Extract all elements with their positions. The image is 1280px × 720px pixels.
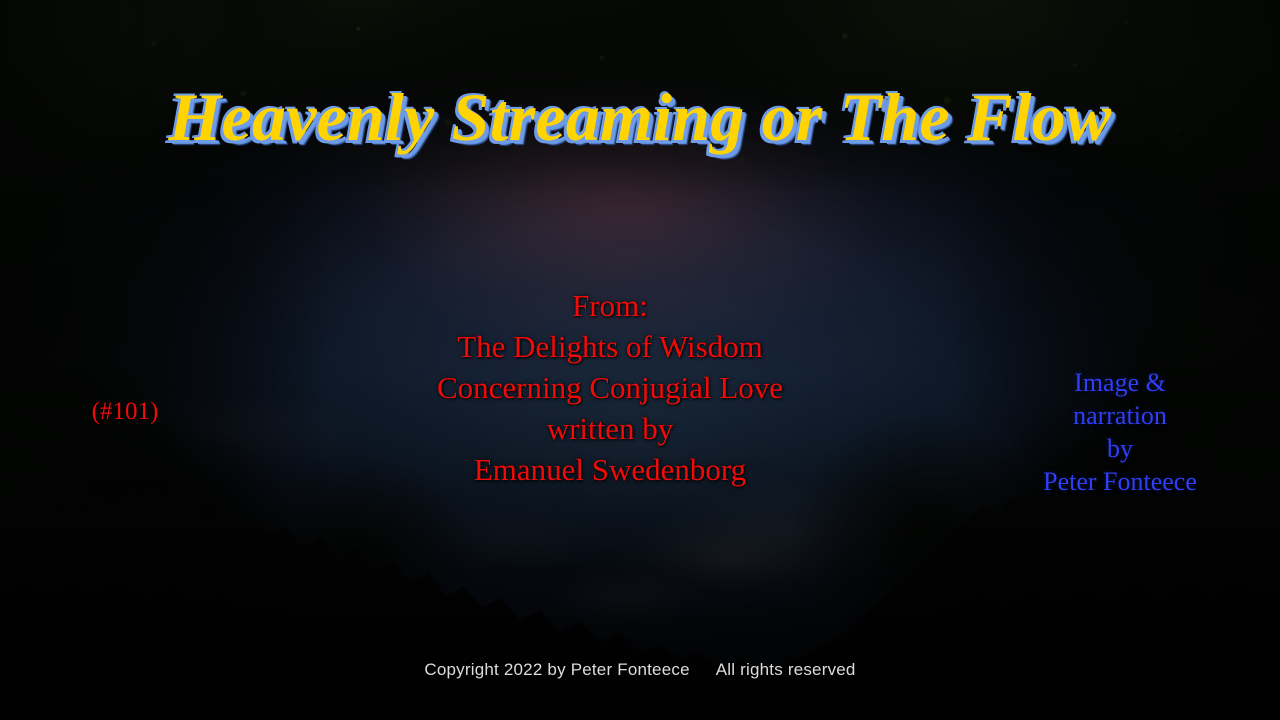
- source-line: written by: [340, 408, 880, 449]
- source-line: Emanuel Swedenborg: [340, 449, 880, 490]
- reference-number: (#101): [55, 397, 195, 427]
- copyright-text: Copyright 2022 by Peter Fonteece: [424, 660, 689, 679]
- credit-line: narration: [1000, 399, 1240, 432]
- source-attribution: From: The Delights of Wisdom Concerning …: [340, 285, 880, 490]
- rights-reserved-text: All rights reserved: [716, 660, 856, 679]
- slide-title: Heavenly Streaming or The Flow: [0, 82, 1280, 153]
- credit-line: Peter Fonteece: [1000, 465, 1240, 498]
- copyright-notice: Copyright 2022 by Peter FonteeceAll righ…: [0, 660, 1280, 680]
- source-line: Concerning Conjugial Love: [340, 367, 880, 408]
- credit-attribution: Image & narration by Peter Fonteece: [1000, 366, 1240, 498]
- credit-line: by: [1000, 432, 1240, 465]
- source-line: From:: [340, 285, 880, 326]
- credit-line: Image &: [1000, 366, 1240, 399]
- presentation-slide: Heavenly Streaming or The Flow (#101) Fr…: [0, 0, 1280, 720]
- source-line: The Delights of Wisdom: [340, 326, 880, 367]
